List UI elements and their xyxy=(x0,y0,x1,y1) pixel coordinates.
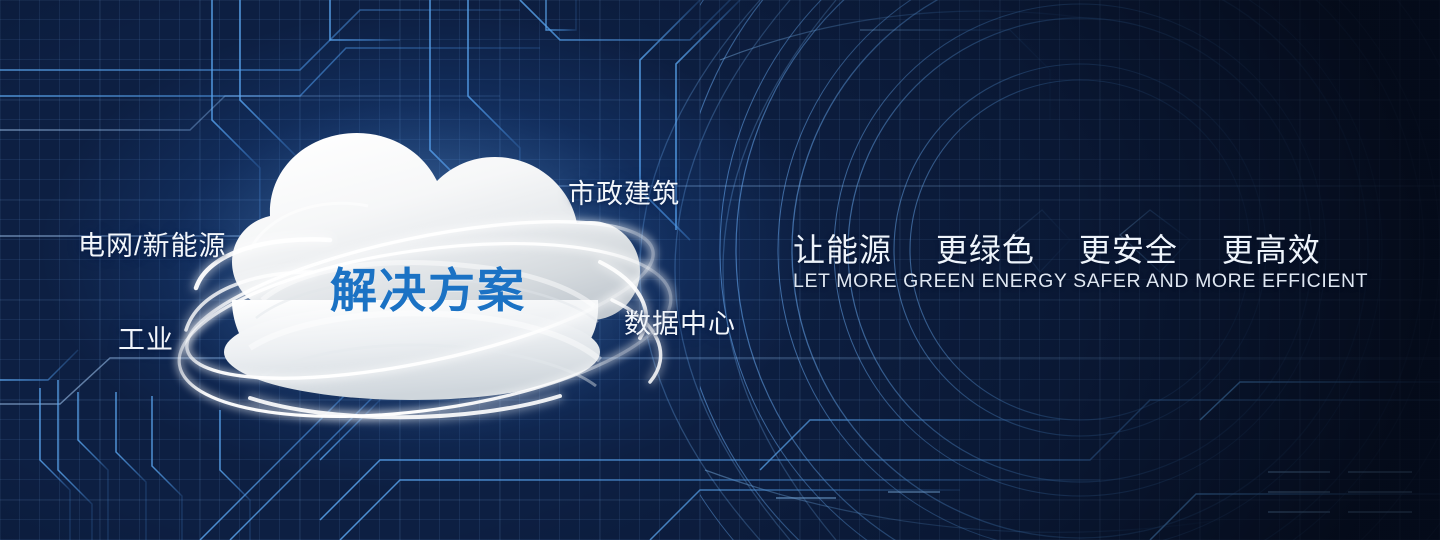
slogan-chinese: 让能源 更绿色 更安全 更高效 xyxy=(793,225,1321,271)
slogan-segment: 更高效 xyxy=(1222,225,1321,271)
slogan-segment: 让能源 xyxy=(793,225,892,271)
slogan-segment: 更绿色 xyxy=(936,225,1035,271)
label-grid-new-energy: 电网/新能源 xyxy=(78,224,227,263)
label-data-center: 数据中心 xyxy=(624,302,736,341)
label-municipal-building: 市政建筑 xyxy=(568,172,680,211)
slogan-english: LET MORE GREEN ENERGY SAFER AND MORE EFF… xyxy=(793,270,1368,293)
slogan-segment: 更安全 xyxy=(1079,225,1178,271)
cloud-title-solution: 解决方案 xyxy=(330,252,526,321)
label-industry: 工业 xyxy=(118,318,174,357)
solution-banner: 电网/新能源 工业 市政建筑 数据中心 解决方案 让能源 更绿色 更安全 更高效… xyxy=(0,0,1440,540)
